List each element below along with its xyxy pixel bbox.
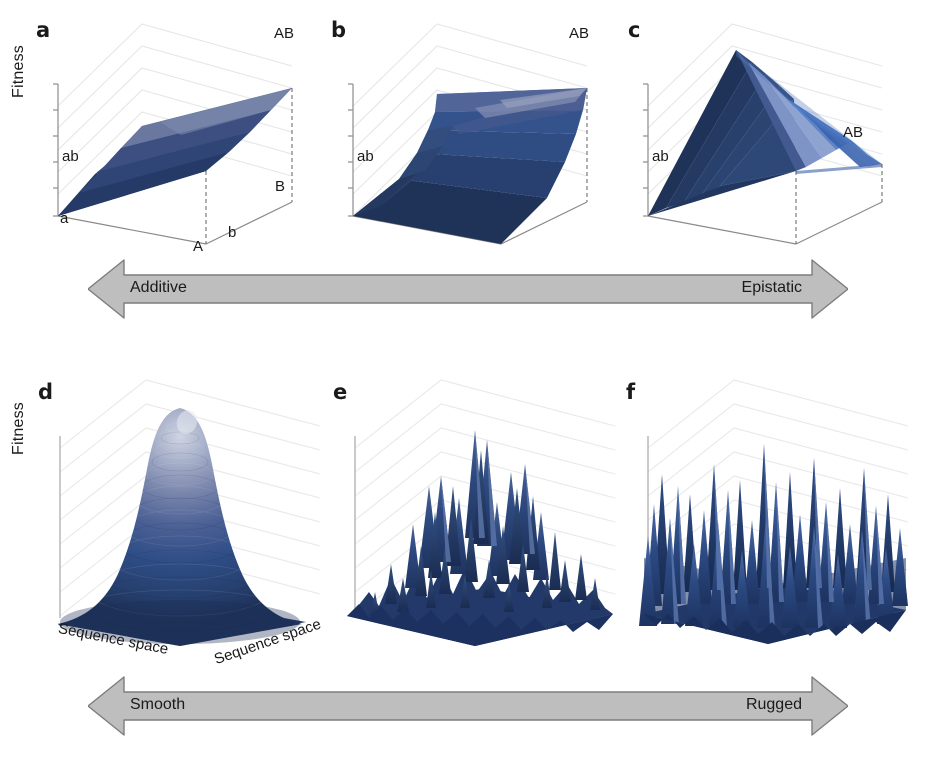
floor-axes — [58, 202, 292, 244]
panel-b-tick-AB: AB — [569, 25, 589, 42]
panel-letter-e: e — [333, 382, 347, 403]
panel-c-tick-AB: AB — [843, 124, 863, 141]
gradient-arrow-smooth-rugged: Smooth Rugged — [88, 675, 848, 737]
panel-a-x-label-A: A — [193, 238, 203, 255]
arrow-label-epistatic: Epistatic — [742, 279, 802, 297]
panel-d: d — [30, 378, 330, 658]
panel-c-tick-ab: ab — [652, 148, 669, 165]
panel-b-plot — [325, 22, 610, 247]
surface-smooth-peak — [58, 407, 306, 646]
surface-epistatic-mild — [353, 88, 587, 244]
double-arrow-shape — [88, 677, 848, 735]
panel-d-plot — [30, 378, 330, 658]
arrow-label-smooth: Smooth — [130, 696, 185, 714]
arrow-label-rugged: Rugged — [746, 696, 802, 714]
panel-a-z-label-b: b — [228, 224, 236, 241]
panel-a-x-label-a: a — [60, 210, 68, 227]
panel-a: a — [30, 22, 315, 247]
dropline-guides — [796, 164, 882, 244]
panel-a-tick-AB: AB — [274, 25, 294, 42]
double-arrow-shape — [88, 260, 848, 318]
z-axis — [643, 84, 648, 216]
panel-b-tick-ab: ab — [357, 148, 374, 165]
panel-letter-b: b — [331, 20, 346, 41]
z-axis — [53, 84, 58, 216]
arrow-label-additive: Additive — [130, 279, 187, 297]
z-axis — [348, 84, 353, 216]
panel-e: e — [325, 378, 625, 658]
panel-a-z-label-B: B — [275, 178, 285, 195]
panel-e-plot — [325, 378, 625, 658]
panel-letter-f: f — [626, 382, 635, 403]
panel-a-plot — [30, 22, 315, 247]
gradient-arrow-additive-epistatic: Additive Epistatic — [88, 258, 848, 320]
surface-fully-rugged — [639, 444, 908, 644]
panel-c: c — [620, 22, 910, 247]
panel-b: b — [325, 22, 610, 247]
figure-canvas: a Fitness ab AB a A b B — [0, 0, 927, 765]
floor-axes — [648, 202, 882, 244]
panel-a-y-axis-title: Fitness — [10, 6, 28, 98]
panel-f-plot — [618, 378, 918, 658]
panel-c-plot — [620, 22, 910, 247]
panel-letter-c: c — [628, 20, 640, 41]
panel-letter-a: a — [36, 20, 50, 41]
panel-letter-d: d — [38, 382, 53, 403]
panel-d-y-axis-title: Fitness — [10, 363, 28, 455]
panel-f: f — [618, 378, 918, 658]
panel-a-tick-ab: ab — [62, 148, 79, 165]
